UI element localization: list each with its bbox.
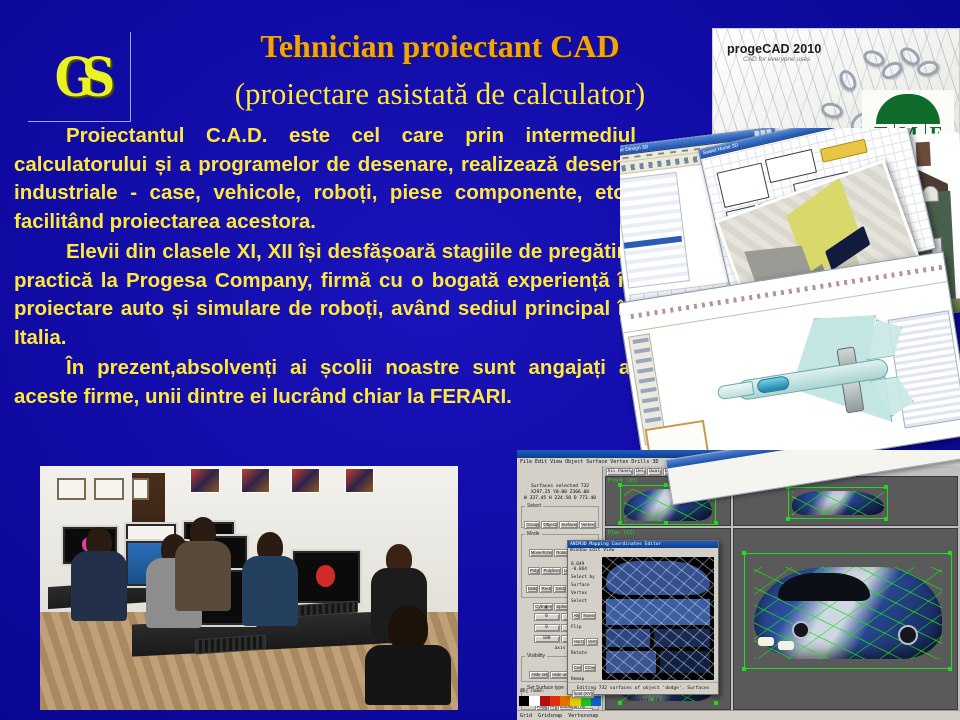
- resize-handle[interactable]: [714, 521, 718, 525]
- slide-title-line2: (proiectare asistată de calculator): [150, 76, 730, 112]
- selection-bbox: [744, 553, 952, 669]
- uv-mapping-dialog[interactable]: ANIM3D Mapping Coordinates Editor Window…: [567, 540, 719, 695]
- wall-picture-frame: [132, 478, 149, 500]
- resize-handle[interactable]: [884, 517, 888, 521]
- toolbar-dual-button[interactable]: Dual: [647, 468, 662, 476]
- student-torso: [365, 645, 451, 705]
- obj-name-label: Obj name:: [520, 689, 545, 694]
- toolbar-del-button[interactable]: Del: [634, 468, 646, 476]
- statusbar-gridsnap-check[interactable]: Gridsnap: [538, 713, 562, 719]
- coord-header-x: X: [532, 606, 560, 611]
- resize-handle[interactable]: [664, 521, 668, 525]
- palette-swatch[interactable]: [519, 696, 529, 706]
- uv-rotate-caption: Rotate: [571, 651, 599, 656]
- resize-handle[interactable]: [618, 701, 622, 705]
- paragraph-1: Proiectantul C.A.D. este cel care prin i…: [14, 122, 636, 236]
- resize-handle[interactable]: [742, 551, 746, 555]
- overlapping-window-titlebar: [666, 450, 960, 468]
- viewport-front-label: Front (XY): [608, 478, 638, 484]
- cad-model-on-screen: [316, 565, 335, 586]
- carcad-select-group: Select GroupObjectSurfaceVertex: [521, 506, 599, 528]
- uv-select-caption: Select: [571, 599, 599, 604]
- uv-dialog-sidebar[interactable]: 0.049 -0.064 Select by Surface Vertex Se…: [571, 559, 599, 680]
- car-cad-screenshot[interactable]: File Edit View Object Surface Vertex Dri…: [517, 450, 960, 720]
- wall-poster: [345, 468, 374, 492]
- slide-title-line1: Tehnician proiectant CAD: [150, 28, 730, 65]
- carcad-selection-info: Surfaces selected 732 X297.25 Y0.00 Z366…: [520, 484, 600, 502]
- resize-handle[interactable]: [742, 667, 746, 671]
- uv-select-none-button[interactable]: None: [581, 612, 596, 620]
- uv-flip-horz-button[interactable]: Horz: [572, 638, 585, 646]
- tmf-dome-shape: [876, 94, 940, 124]
- monitor-screen: [295, 553, 358, 601]
- student-torso: [175, 541, 231, 611]
- resize-handle[interactable]: [664, 483, 668, 487]
- axis-label: axis: [554, 646, 565, 651]
- resize-handle[interactable]: [948, 667, 952, 671]
- window-title: Home Design 3D: [620, 144, 649, 155]
- palette-swatch[interactable]: [529, 696, 539, 706]
- uv-wireframe: [602, 557, 714, 680]
- ferari-period: .: [506, 385, 512, 408]
- uv-rotate-cw-button[interactable]: Cw: [572, 664, 582, 672]
- select-object-button[interactable]: Object: [541, 521, 558, 529]
- mode-button-disk[interactable]: Disk: [526, 585, 539, 593]
- school-logo: GS: [28, 32, 131, 122]
- uv-flip-vert-button[interactable]: Vert: [586, 638, 598, 646]
- mode-group-caption: Mode: [525, 531, 542, 537]
- paragraph-3-text: În prezent,absolvenți ai școlii noastre …: [14, 356, 636, 408]
- uv-select-by-label: Select by: [571, 575, 599, 580]
- visibility-caption: Visibility: [525, 653, 547, 659]
- resize-handle[interactable]: [884, 485, 888, 489]
- wall-picture-frame: [57, 478, 86, 500]
- uv-select-all-button[interactable]: All: [572, 612, 581, 620]
- slide-canvas: GS Tehnician proiectant CAD (proiectare …: [0, 0, 960, 720]
- paragraph-2: Elevii din clasele XI, XII își desfășoar…: [14, 238, 636, 352]
- info-line-3: W 337.45 H 224.58 D 773.40: [520, 496, 600, 502]
- uv-rotate-ccw-button[interactable]: CCw: [583, 664, 597, 672]
- mode-button-poly[interactable]: Poly: [528, 567, 541, 575]
- paragraph-3: În prezent,absolvenți ai școlii noastre …: [14, 354, 636, 411]
- wall-poster: [291, 468, 320, 492]
- student-torso: [71, 551, 127, 621]
- viewport-plan-label: Plan (XZ): [608, 530, 635, 536]
- resize-handle[interactable]: [714, 701, 718, 705]
- plan-room: [717, 163, 770, 208]
- object-tree-panel[interactable]: [620, 172, 690, 289]
- resize-handle[interactable]: [618, 521, 622, 525]
- viewport-perspective[interactable]: [733, 528, 958, 710]
- select-vertex-button[interactable]: Vertex: [579, 521, 595, 529]
- mode-button-grid[interactable]: Grid: [553, 585, 565, 593]
- uv-select-by-surface[interactable]: Surface: [571, 583, 599, 588]
- school-logo-glyph: GS: [55, 45, 104, 107]
- resize-handle[interactable]: [948, 551, 952, 555]
- progecad-subtitle: CAD for everyone uses: [743, 56, 810, 63]
- mode-button-movesize[interactable]: Move/Size: [529, 549, 554, 557]
- computer-monitor: [291, 549, 362, 605]
- resize-handle[interactable]: [618, 483, 622, 487]
- selection-bbox: [788, 487, 888, 519]
- select-surface-button[interactable]: Surface: [559, 521, 578, 529]
- hide-selected-button[interactable]: Hide sel: [529, 671, 549, 679]
- uv-map-canvas[interactable]: [602, 557, 714, 680]
- palette-swatch[interactable]: [560, 696, 570, 706]
- toolbar-all-panel-button[interactable]: All Panel: [606, 468, 634, 476]
- statusbar-grid-check[interactable]: Grid: [520, 713, 532, 719]
- uv-flip-caption: Flip: [571, 625, 599, 630]
- carcad-statusbar: Grid Gridsnap Vertexsnap: [517, 710, 960, 720]
- statusbar-vertexsnap-check[interactable]: Vertexsnap: [568, 713, 598, 719]
- coord-field-x3[interactable]: 100: [534, 635, 560, 643]
- cad-software-montage: Home Design 3D Sweet Home 3D: [620, 128, 960, 458]
- wall-picture-frame: [94, 478, 123, 500]
- ferari-highlight: FERARI: [430, 385, 506, 408]
- mode-button-polyline[interactable]: Polyline: [541, 567, 560, 575]
- select-group-caption: Select: [525, 503, 543, 509]
- uv-dialog-titlebar[interactable]: ANIM3D Mapping Coordinates Editor: [568, 541, 718, 548]
- house-chimney: [916, 142, 931, 167]
- wall-poster: [241, 468, 270, 492]
- slide-body-text: Proiectantul C.A.D. este cel care prin i…: [14, 122, 636, 411]
- wall-poster: [190, 468, 219, 492]
- jet-3d-model: [704, 299, 922, 458]
- plan-bed-symbol: [820, 139, 868, 163]
- uv-coords: 0.049 -0.064: [571, 562, 599, 572]
- progecad-title: progeCAD 2010: [727, 42, 821, 56]
- uv-select-by-vertex[interactable]: Vertex: [571, 591, 599, 596]
- classroom-photo: [40, 466, 458, 710]
- uv-dialog-menubar[interactable]: Window Edit View: [568, 548, 718, 554]
- plan-room: [765, 149, 817, 183]
- mode-button-rect[interactable]: Rect: [539, 585, 552, 593]
- student-torso: [242, 556, 298, 626]
- palette-swatch[interactable]: [550, 696, 560, 706]
- uv-dialog-footer: Editing 732 surfaces of object 'dodge'. …: [568, 682, 718, 694]
- coord-field-x2[interactable]: 0: [534, 624, 560, 632]
- palette-swatch[interactable]: [540, 696, 550, 706]
- select-group-button[interactable]: Group: [524, 521, 540, 529]
- coord-field-x1[interactable]: 0: [534, 613, 560, 621]
- resize-handle[interactable]: [786, 517, 790, 521]
